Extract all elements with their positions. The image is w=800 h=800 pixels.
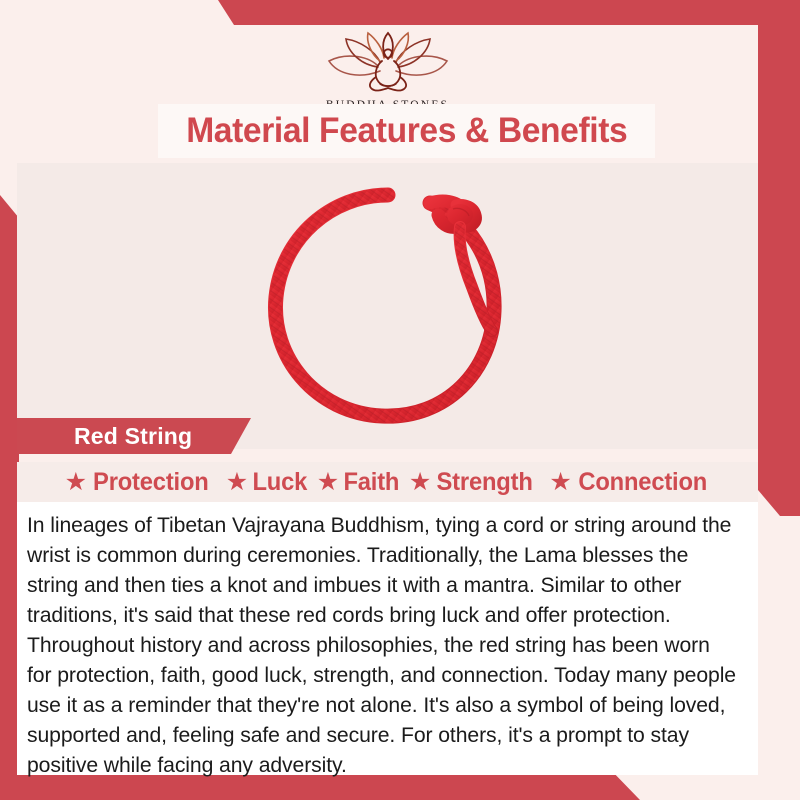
top-red-bar [0,0,800,25]
infographic-page: BUDDHA STONES Material Features & Benefi… [0,0,800,800]
lotus-meditation-icon [320,31,456,97]
benefit-label: Protection [93,468,209,497]
benefits-row: ★ Protection ★ Luck ★ Faith ★ Strength ★… [17,462,758,502]
content-panel: BUDDHA STONES Material Features & Benefi… [17,25,758,775]
header-section: BUDDHA STONES Material Features & Benefi… [17,25,758,163]
material-name-banner: Red String [17,418,251,454]
star-icon: ★ [409,470,431,495]
star-icon: ★ [317,470,339,495]
benefit-luck: ★ Luck [226,468,309,497]
benefit-label: Luck [253,468,308,497]
benefit-label: Strength [437,468,533,497]
description-paragraph: In lineages of Tibetan Vajrayana Buddhis… [27,510,737,780]
benefit-label: Faith [344,468,400,497]
benefit-connection: ★ Connection [549,468,710,497]
brand-logo: BUDDHA STONES [17,31,758,111]
description-section: In lineages of Tibetan Vajrayana Buddhis… [17,502,758,775]
benefit-label: Connection [578,468,707,497]
star-icon: ★ [226,470,248,495]
star-icon: ★ [65,470,87,495]
right-red-bar [758,0,800,516]
benefit-protection: ★ Protection [65,468,212,497]
page-title: Material Features & Benefits [186,111,627,151]
page-title-box: Material Features & Benefits [158,104,655,158]
material-name-label: Red String [74,423,192,450]
product-image-section [17,163,758,449]
red-braided-string-bracelet [260,185,515,433]
star-icon: ★ [549,470,571,495]
benefit-faith: ★ Faith [317,468,401,497]
benefit-strength: ★ Strength [409,468,536,497]
